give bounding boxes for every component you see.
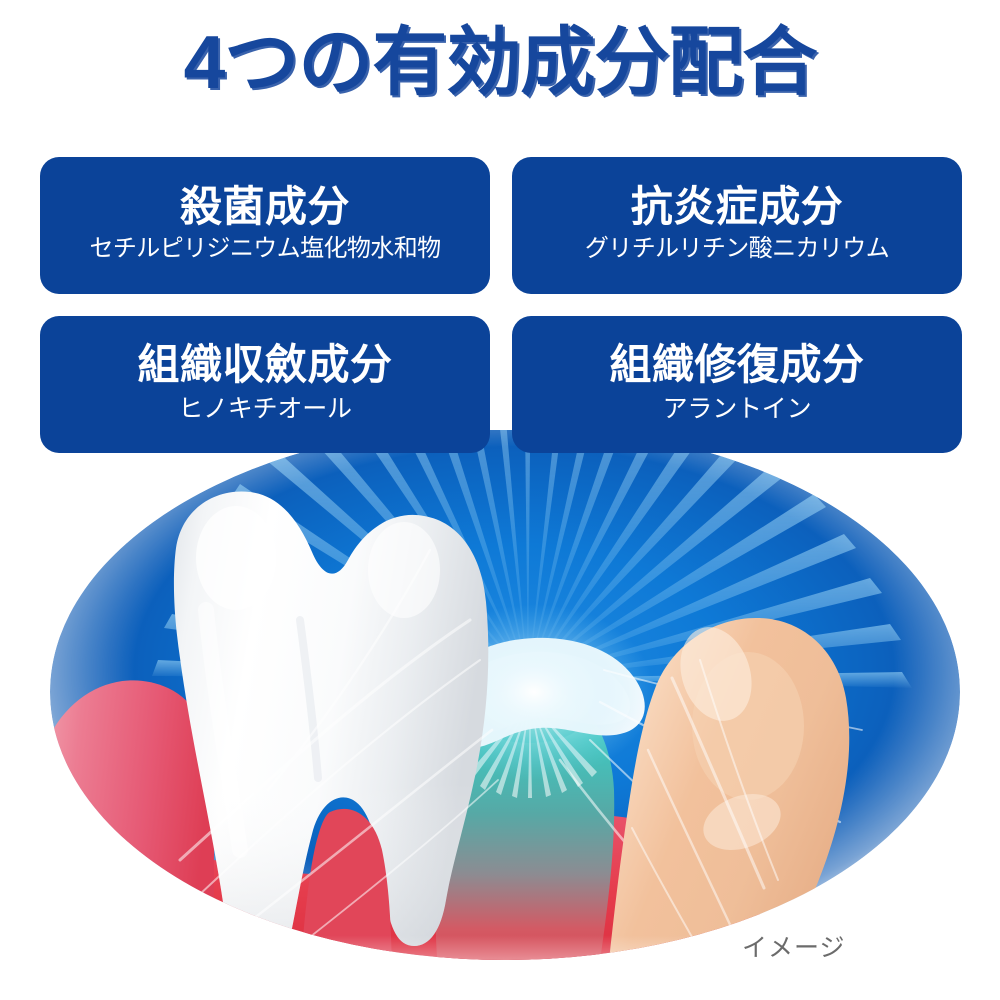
page-root: 4つの有効成分配合 [0, 0, 1000, 1000]
card-subtitle: セチルピリジニウム塩化物水和物 [90, 235, 441, 264]
card-title: 殺菌成分 [180, 183, 350, 230]
card-title: 抗炎症成分 [631, 183, 844, 230]
ingredient-card-grid: 殺菌成分 セチルピリジニウム塩化物水和物 抗炎症成分 グリチルリチン酸ニカリウム… [40, 157, 962, 453]
card-subtitle: ヒノキチオール [178, 394, 352, 424]
page-title: 4つの有効成分配合 [0, 22, 1000, 103]
card-title: 組織収斂成分 [137, 341, 392, 388]
tooth-gum-finger-illustration [0, 430, 1000, 1000]
card-subtitle: アラントイン [663, 394, 812, 424]
ingredient-card-tissue-repair[interactable]: 組織修復成分 アラントイン [512, 316, 962, 453]
card-subtitle: グリチルリチン酸ニカリウム [585, 235, 889, 264]
ingredient-card-anti-inflammatory[interactable]: 抗炎症成分 グリチルリチン酸ニカリウム [512, 157, 962, 294]
image-disclaimer-caption: イメージ [742, 928, 846, 964]
ingredient-card-astringent[interactable]: 組織収斂成分 ヒノキチオール [40, 316, 490, 453]
card-title: 組織修復成分 [609, 341, 864, 388]
ingredient-card-bactericidal[interactable]: 殺菌成分 セチルピリジニウム塩化物水和物 [40, 157, 490, 294]
